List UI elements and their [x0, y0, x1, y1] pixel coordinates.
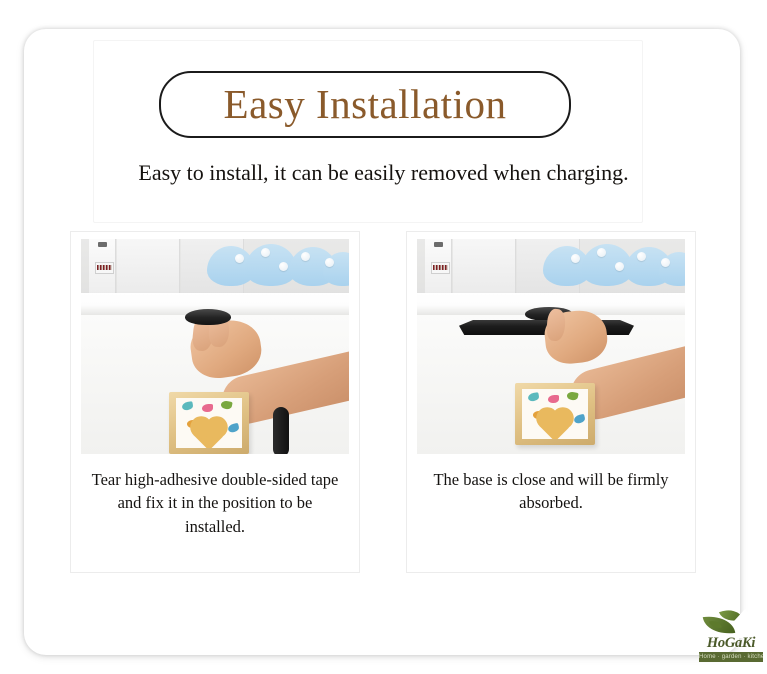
steps-panel-group: Tear high-adhesive double-sided tape and… [70, 231, 696, 573]
lamp-rod [273, 407, 289, 454]
adhesive-base-disc [185, 309, 231, 325]
logo-wordmark: HoGaKi [698, 635, 764, 652]
step-panel-2: The base is close and will be firmly abs… [406, 231, 696, 573]
step-caption-2: The base is close and will be firmly abs… [422, 468, 680, 515]
frame-artwork [176, 398, 242, 448]
cloud-hook-rack [541, 244, 685, 286]
metal-clip-icon [434, 242, 443, 247]
logo-tagline: Home · garden · kitchen [699, 652, 763, 662]
label-sticker [95, 262, 114, 274]
infographic-page: Easy Installation Easy to install, it ca… [0, 0, 767, 674]
page-subtitle: Easy to install, it can be easily remove… [0, 160, 767, 186]
page-title: Easy Installation [224, 84, 507, 125]
step-caption-1: Tear high-adhesive double-sided tape and… [86, 468, 344, 538]
step-photo-1 [81, 239, 349, 454]
title-pill: Easy Installation [159, 71, 571, 138]
heart-shape [193, 419, 224, 448]
label-sticker [431, 262, 450, 274]
brand-logo: HoGaKi Home · garden · kitchen [698, 607, 764, 662]
heart-shape [539, 410, 570, 439]
cabinet-door-panel [453, 239, 516, 293]
cabinet-door-panel [117, 239, 180, 293]
step-photo-2 [417, 239, 685, 454]
cloud-hook-rack [205, 244, 349, 286]
frame-artwork [522, 389, 588, 439]
picture-frame [515, 383, 595, 445]
metal-clip-icon [98, 242, 107, 247]
step-panel-1: Tear high-adhesive double-sided tape and… [70, 231, 360, 573]
picture-frame [169, 392, 249, 454]
